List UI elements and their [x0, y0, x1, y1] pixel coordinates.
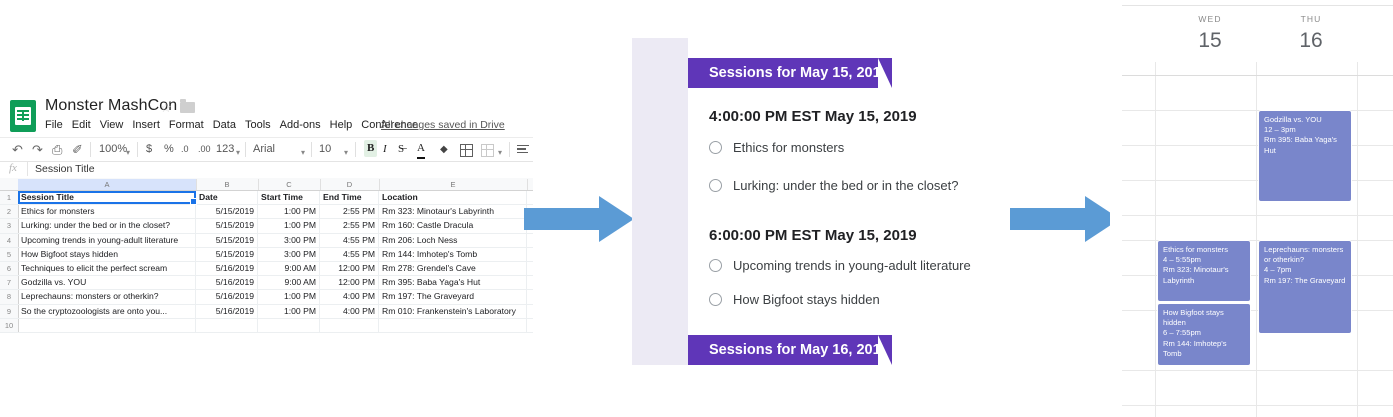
table-row[interactable]: 2 Ethics for monsters 5/15/2019 1:00 PM … [0, 205, 533, 219]
event-time: 4 – 5:55pm [1163, 255, 1245, 265]
column-header-a[interactable]: A [18, 179, 197, 190]
cell-location[interactable]: Rm 323: Minotaur's Labyrinth [379, 205, 527, 218]
cell-title[interactable]: Ethics for monsters [18, 205, 196, 218]
cell-start[interactable]: 3:00 PM [258, 234, 320, 247]
flow-arrow-form-to-calendar [1010, 196, 1120, 242]
event-time: 6 – 7:55pm [1163, 328, 1245, 338]
google-forms-panel: Sessions for May 15, 2019 4:00:00 PM EST… [632, 38, 912, 365]
flow-arrow-sheets-to-form [524, 196, 634, 242]
cell-start[interactable]: 1:00 PM [258, 205, 320, 218]
cell-location[interactable]: Rm 197: The Graveyard [379, 290, 527, 303]
cell-start[interactable]: 9:00 AM [258, 276, 320, 289]
cell-location[interactable]: Rm 395: Baba Yaga's Hut [379, 276, 527, 289]
spreadsheet-grid: A B C D E 1 Session Title Date Start Tim… [0, 178, 533, 333]
cell-date[interactable]: 5/16/2019 [196, 276, 258, 289]
event-location: Rm 323: Minotaur's Labyrinth [1163, 265, 1245, 285]
percent-format-button[interactable]: % [164, 141, 174, 158]
cell-date[interactable] [196, 319, 258, 332]
toolbar-divider-4 [311, 142, 312, 157]
cell-location[interactable]: Rm 160: Castle Dracula [379, 219, 527, 232]
bold-button[interactable]: B [364, 140, 377, 157]
folder-icon[interactable] [180, 102, 195, 113]
cell-date[interactable]: 5/15/2019 [196, 248, 258, 261]
calendar-hour-line [1122, 370, 1393, 371]
cell-date[interactable]: 5/15/2019 [196, 234, 258, 247]
zoom-chevron-down-icon[interactable]: ▾ [126, 144, 130, 161]
cell-location[interactable]: Rm 206: Loch Ness [379, 234, 527, 247]
font-size-select[interactable]: 10 [319, 141, 331, 158]
event-time: 12 – 3pm [1264, 125, 1346, 135]
banner-tail-shape [878, 58, 892, 88]
redo-icon[interactable]: ↷ [32, 141, 43, 158]
cell-a1[interactable]: Session Title [18, 191, 196, 204]
menu-bar: FileEditViewInsertFormatDataToolsAdd-ons… [45, 119, 427, 131]
strikethrough-button[interactable]: S̶ [398, 141, 404, 158]
cell-end[interactable]: 2:55 PM [320, 219, 379, 232]
calendar-hour-line [1122, 405, 1393, 406]
table-row[interactable]: 10 [0, 319, 533, 333]
day-of-week-label: THU [1261, 14, 1361, 24]
column-header-b[interactable]: B [196, 179, 259, 190]
event-location: Rm 197: The Graveyard [1264, 276, 1346, 286]
radio-button-icon[interactable] [709, 179, 722, 192]
cell-title[interactable]: So the cryptozoologists are onto you... [18, 305, 196, 318]
borders-icon[interactable] [460, 144, 473, 157]
cell-start[interactable]: 1:00 PM [258, 219, 320, 232]
event-title: Leprechauns: monsters or otherkin? [1264, 245, 1346, 265]
cell-b1[interactable]: Date [196, 191, 258, 204]
cell-title[interactable]: Lurking: under the bed or in the closet? [18, 219, 196, 232]
decrease-decimal-button[interactable]: .0 [181, 141, 189, 158]
row-number[interactable]: 3 [0, 219, 19, 232]
zoom-level[interactable]: 100% [99, 141, 127, 158]
event-title: Ethics for monsters [1163, 245, 1245, 255]
cell-title[interactable]: Upcoming trends in young-adult literatur… [18, 234, 196, 247]
toolbar-divider-5 [355, 142, 356, 157]
cell-c1[interactable]: Start Time [258, 191, 320, 204]
row-number[interactable]: 8 [0, 290, 19, 303]
radio-option-label: Lurking: under the bed or in the closet? [733, 178, 958, 193]
screenshot-stage: Monster MashCon ☆ FileEditViewInsertForm… [0, 0, 1393, 417]
increase-decimal-button[interactable]: .00 [198, 141, 211, 158]
paint-format-icon[interactable]: ✐ [72, 141, 83, 158]
cell-title[interactable]: Leprechauns: monsters or otherkin? [18, 290, 196, 303]
save-status-label: All changes saved in Drive [381, 119, 505, 131]
event-location: Rm 144: Imhotep's Tomb [1163, 339, 1245, 359]
print-icon[interactable]: ⎙ [52, 141, 62, 158]
event-location: Rm 395: Baba Yaga's Hut [1264, 135, 1346, 155]
table-row[interactable]: 6 Techniques to elicit the perfect screa… [0, 262, 533, 276]
cell-title[interactable]: Godzilla vs. YOU [18, 276, 196, 289]
cell-d1[interactable]: End Time [320, 191, 379, 204]
cell-location[interactable]: Rm 144: Imhotep's Tomb [379, 248, 527, 261]
row-number[interactable]: 7 [0, 276, 19, 289]
table-row[interactable]: 3 Lurking: under the bed or in the close… [0, 219, 533, 233]
menu-item-insert[interactable]: Insert [132, 119, 160, 131]
cell-end[interactable]: 4:55 PM [320, 234, 379, 247]
event-title: Godzilla vs. YOU [1264, 115, 1346, 125]
calendar-event[interactable]: Godzilla vs. YOU 12 – 3pm Rm 395: Baba Y… [1258, 110, 1352, 202]
merge-chevron-down-icon[interactable]: ▾ [498, 144, 502, 161]
row-number[interactable]: 6 [0, 262, 19, 275]
row-number[interactable]: 1 [0, 191, 19, 204]
cell-e1[interactable]: Location [379, 191, 527, 204]
star-icon[interactable]: ☆ [160, 100, 172, 116]
cell-date[interactable]: 5/16/2019 [196, 290, 258, 303]
fill-color-icon[interactable]: ◆ [440, 141, 448, 158]
calendar-day-header-thu[interactable]: THU 16 [1261, 14, 1361, 53]
section-banner-label: Sessions for May 15, 2019 [709, 65, 889, 81]
cell-end[interactable]: 12:00 PM [320, 276, 379, 289]
sheets-titlebar: Monster MashCon ☆ FileEditViewInsertForm… [0, 95, 533, 137]
formula-bar: fx Session Title [0, 160, 533, 179]
undo-icon[interactable]: ↶ [12, 141, 23, 158]
menu-item-help[interactable]: Help [330, 119, 353, 131]
banner-tail-shape [878, 335, 892, 365]
toolbar-divider-2 [137, 142, 138, 157]
sheets-toolbar: ↶ ↷ ⎙ ✐ 100% ▾ $ % .0 .00 123 ▾ Arial ▾ … [0, 137, 533, 162]
radio-button-icon[interactable] [709, 259, 722, 272]
table-row-header[interactable]: 1 Session Title Date Start Time End Time… [0, 191, 533, 205]
form-left-strip [632, 38, 688, 365]
cell-end[interactable]: 4:55 PM [320, 248, 379, 261]
table-row[interactable]: 7 Godzilla vs. YOU 5/16/2019 9:00 AM 12:… [0, 276, 533, 290]
event-time: 4 – 7pm [1264, 265, 1346, 275]
toolbar-divider-3 [245, 142, 246, 157]
table-row[interactable]: 9 So the cryptozoologists are onto you..… [0, 305, 533, 319]
cell-date[interactable]: 5/15/2019 [196, 219, 258, 232]
calendar-event[interactable]: Leprechauns: monsters or otherkin? 4 – 7… [1258, 240, 1352, 334]
formula-input[interactable]: Session Title [35, 163, 95, 175]
cell-location[interactable] [379, 319, 527, 332]
fx-icon: fx [9, 162, 17, 174]
day-number-label: 16 [1261, 28, 1361, 53]
google-sheets-logo [10, 100, 36, 132]
table-row[interactable]: 4 Upcoming trends in young-adult literat… [0, 234, 533, 248]
day-of-week-label: WED [1160, 14, 1260, 24]
cell-start[interactable] [258, 319, 320, 332]
menu-item-data[interactable]: Data [213, 119, 236, 131]
document-title[interactable]: Monster MashCon [45, 97, 177, 115]
merge-cells-icon[interactable] [481, 144, 494, 157]
section-banner-may-16: Sessions for May 16, 2019 [688, 335, 878, 365]
menu-item-file[interactable]: File [45, 119, 63, 131]
row-number[interactable]: 4 [0, 234, 19, 247]
number-format-chevron-down-icon[interactable]: ▾ [236, 144, 240, 161]
cell-title[interactable]: How Bigfoot stays hidden [18, 248, 196, 261]
row-number[interactable]: 9 [0, 305, 19, 318]
table-row[interactable]: 8 Leprechauns: monsters or otherkin? 5/1… [0, 290, 533, 304]
section-banner-label: Sessions for May 16, 2019 [709, 342, 889, 358]
cell-date[interactable]: 5/16/2019 [196, 305, 258, 318]
cell-start[interactable]: 9:00 AM [258, 262, 320, 275]
row-number[interactable]: 2 [0, 205, 19, 218]
radio-option-label: Upcoming trends in young-adult literatur… [733, 258, 971, 273]
event-title: How Bigfoot stays hidden [1163, 308, 1245, 328]
cell-end[interactable]: 12:00 PM [320, 262, 379, 275]
align-icon[interactable] [517, 145, 529, 154]
cell-end[interactable]: 2:55 PM [320, 205, 379, 218]
cell-end[interactable]: 4:00 PM [320, 305, 379, 318]
google-calendar-panel: WED 15 THU 16 Godzilla vs. YOU 12 – 3pm … [1110, 0, 1393, 417]
select-all-corner[interactable] [0, 179, 19, 190]
toolbar-divider-1 [90, 142, 91, 157]
calendar-hour-line [1122, 215, 1393, 216]
cell-start[interactable]: 3:00 PM [258, 248, 320, 261]
cell-title[interactable]: Techniques to elicit the perfect scream [18, 262, 196, 275]
toolbar-divider-6 [509, 142, 510, 157]
radio-button-icon[interactable] [709, 141, 722, 154]
row-number[interactable]: 5 [0, 248, 19, 261]
italic-button[interactable]: I [383, 141, 387, 158]
cell-start[interactable]: 1:00 PM [258, 290, 320, 303]
cell-location[interactable]: Rm 278: Grendel's Cave [379, 262, 527, 275]
font-family-select[interactable]: Arial [253, 141, 275, 158]
column-header-e[interactable]: E [379, 179, 528, 190]
number-format-button[interactable]: 123 [216, 141, 234, 158]
calendar-event[interactable]: How Bigfoot stays hidden 6 – 7:55pm Rm 1… [1157, 303, 1251, 366]
font-chevron-down-icon[interactable]: ▾ [301, 144, 305, 161]
cell-start[interactable]: 1:00 PM [258, 305, 320, 318]
cell-end[interactable]: 4:00 PM [320, 290, 379, 303]
calendar-day-header-wed[interactable]: WED 15 [1160, 14, 1260, 53]
menu-item-view[interactable]: View [100, 119, 124, 131]
spreadsheet-rows: 1 Session Title Date Start Time End Time… [0, 191, 533, 333]
currency-format-button[interactable]: $ [146, 141, 152, 158]
menu-item-format[interactable]: Format [169, 119, 204, 131]
time-slot-heading-2: 6:00:00 PM EST May 15, 2019 [709, 227, 917, 244]
text-color-button[interactable]: A [417, 140, 425, 159]
section-banner-may-15: Sessions for May 15, 2019 [688, 58, 878, 88]
cell-location[interactable]: Rm 010: Frankenstein's Laboratory [379, 305, 527, 318]
column-header-c[interactable]: C [258, 179, 321, 190]
table-row[interactable]: 5 How Bigfoot stays hidden 5/15/2019 3:0… [0, 248, 533, 262]
day-number-label: 15 [1160, 28, 1260, 53]
menu-item-addons[interactable]: Add-ons [280, 119, 321, 131]
row-number[interactable]: 10 [0, 319, 19, 332]
cell-date[interactable]: 5/15/2019 [196, 205, 258, 218]
time-slot-heading-1: 4:00:00 PM EST May 15, 2019 [709, 108, 917, 125]
calendar-hour-line [1122, 75, 1393, 76]
google-sheets-panel: Monster MashCon ☆ FileEditViewInsertForm… [0, 95, 533, 317]
formula-bar-divider [27, 161, 28, 176]
cell-title[interactable] [18, 319, 196, 332]
radio-option-label: How Bigfoot stays hidden [733, 292, 880, 307]
menu-item-tools[interactable]: Tools [245, 119, 271, 131]
column-header-d[interactable]: D [320, 179, 380, 190]
calendar-top-divider [1122, 5, 1393, 6]
menu-item-edit[interactable]: Edit [72, 119, 91, 131]
column-header-row: A B C D E [0, 178, 533, 191]
calendar-event[interactable]: Ethics for monsters 4 – 5:55pm Rm 323: M… [1157, 240, 1251, 302]
cell-date[interactable]: 5/16/2019 [196, 262, 258, 275]
radio-button-icon[interactable] [709, 293, 722, 306]
cell-end[interactable] [320, 319, 379, 332]
font-size-chevron-down-icon[interactable]: ▾ [344, 144, 348, 161]
radio-option-label: Ethics for monsters [733, 140, 844, 155]
